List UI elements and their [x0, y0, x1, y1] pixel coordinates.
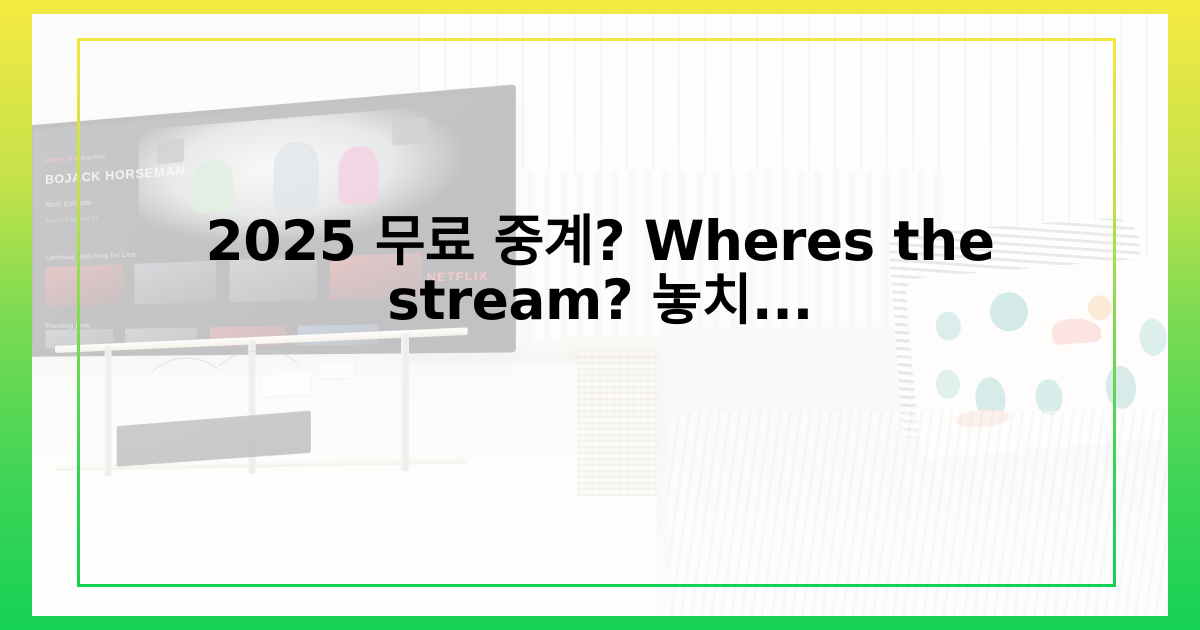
page-title: 2025 무료 중계? Wheres the stream? 놓치... — [0, 212, 1200, 330]
thumbnail-card: NETFLIX ORIGINAL BOJACK HORSEMAN Next Ep… — [0, 0, 1200, 630]
